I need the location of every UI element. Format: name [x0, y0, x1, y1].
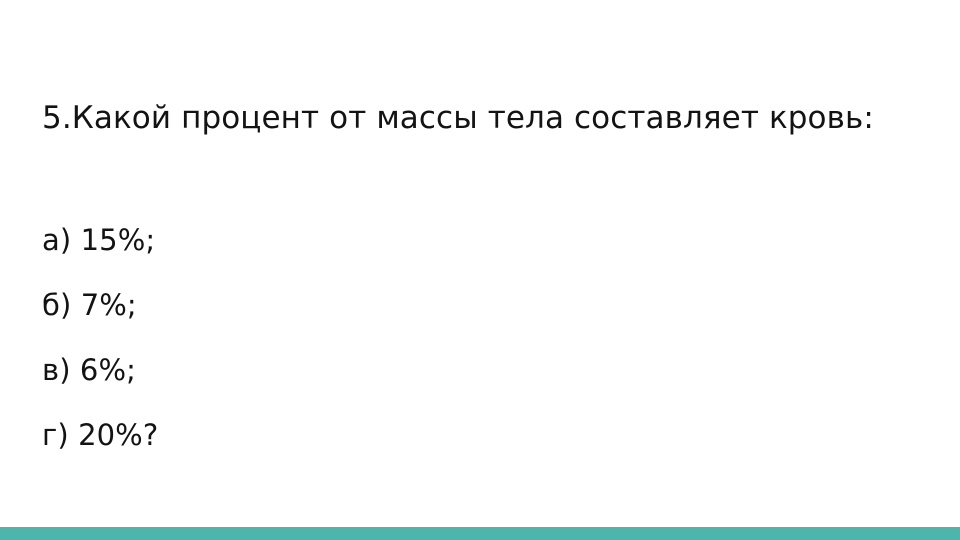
answer-options-list: а) 15%; б) 7%; в) 6%; г) 20%?: [42, 222, 932, 453]
slide: 5.Какой процент от массы тела составляет…: [0, 0, 960, 540]
question-title: 5.Какой процент от массы тела составляет…: [42, 98, 932, 138]
answer-option-b[interactable]: б) 7%;: [42, 287, 932, 323]
answer-option-a[interactable]: а) 15%;: [42, 222, 932, 258]
answer-option-v[interactable]: в) 6%;: [42, 352, 932, 388]
bottom-accent-bar: [0, 527, 960, 540]
answer-option-g[interactable]: г) 20%?: [42, 417, 932, 453]
slide-content: 5.Какой процент от массы тела составляет…: [42, 98, 932, 453]
